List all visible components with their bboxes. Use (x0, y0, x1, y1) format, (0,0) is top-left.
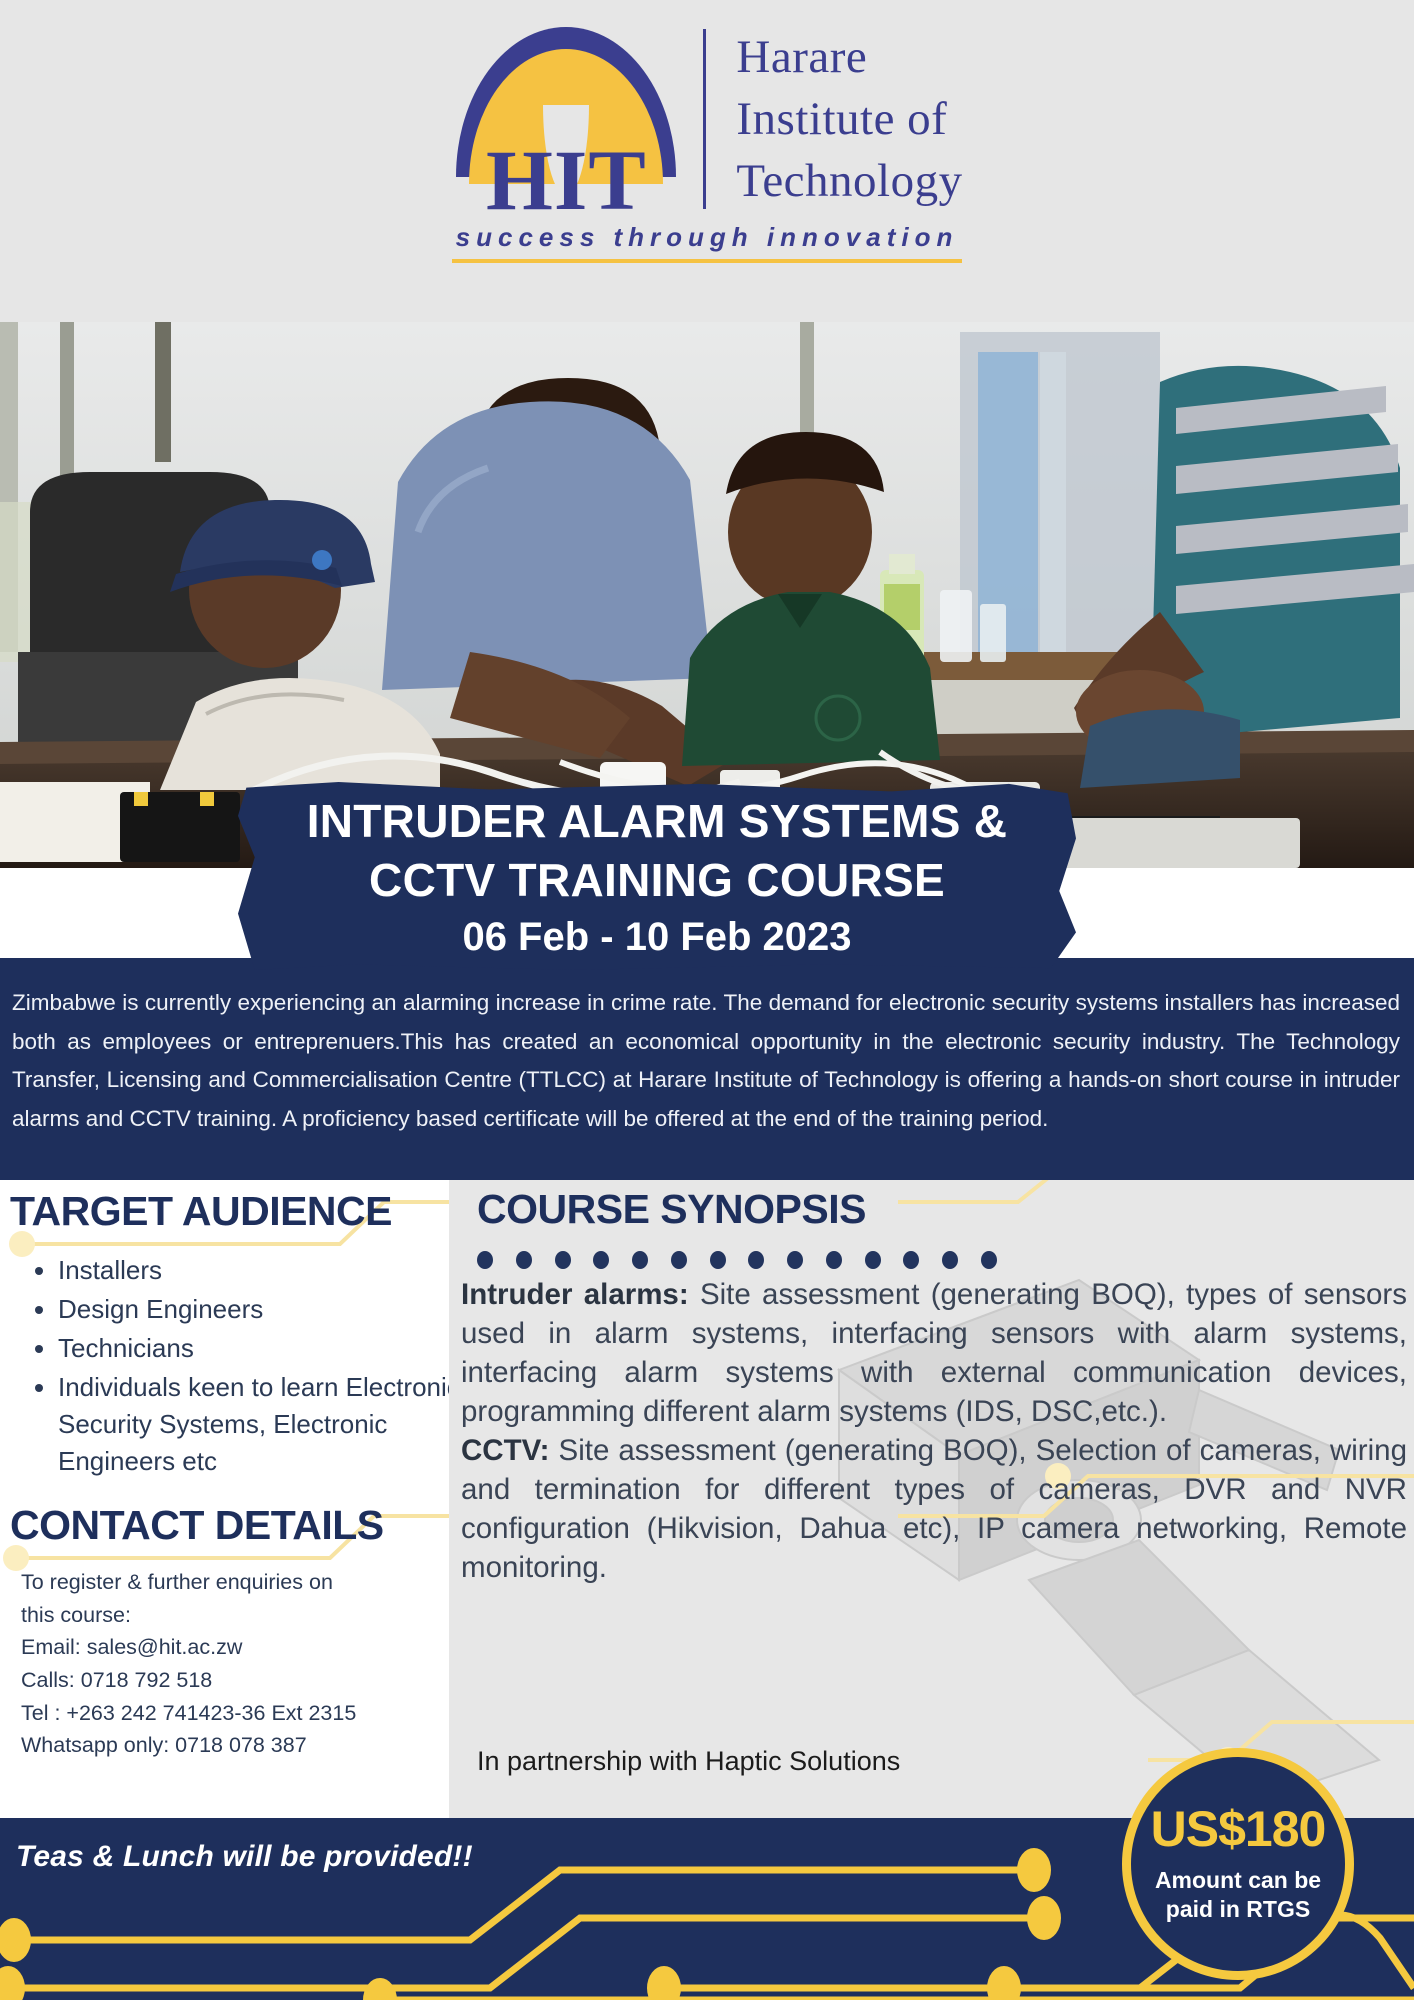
list-item: Individuals keen to learn Electronic Sec… (58, 1369, 478, 1480)
contact-details-heading: CONTACT DETAILS (10, 1502, 384, 1549)
price-amount: US$180 (1151, 1804, 1326, 1854)
logo-acronym: HIT (451, 137, 681, 223)
contact-calls[interactable]: Calls: 0718 792 518 (21, 1664, 441, 1697)
logo-lockup: HIT Harare Institute of Technology (451, 14, 962, 224)
target-audience-heading: TARGET AUDIENCE (10, 1188, 392, 1235)
list-item: Design Engineers (58, 1291, 478, 1328)
partnership-note: In partnership with Haptic Solutions (477, 1746, 900, 1777)
dot-divider (477, 1248, 997, 1272)
tagline-wrap: success through innovation (452, 222, 963, 263)
left-column: TARGET AUDIENCE Installers Design Engine… (0, 1180, 449, 1818)
target-audience-list: Installers Design Engineers Technicians … (18, 1252, 478, 1481)
price-note: Amount can be paid in RTGS (1155, 1866, 1321, 1924)
logo-divider (703, 29, 706, 209)
contact-details-lines: To register & further enquiries on this … (21, 1566, 441, 1762)
description-block: Zimbabwe is currently experiencing an al… (0, 958, 1414, 1180)
price-note-line-1: Amount can be (1155, 1866, 1321, 1895)
institution-line-2: Institute of (736, 88, 962, 150)
course-title-line-2: CCTV TRAINING COURSE (369, 851, 945, 910)
institution-line-3: Technology (736, 150, 962, 212)
list-item: Technicians (58, 1330, 478, 1367)
contact-email[interactable]: Email: sales@hit.ac.zw (21, 1631, 441, 1664)
course-synopsis-body: Intruder alarms: Site assessment (genera… (461, 1276, 1407, 1588)
contact-line: To register & further enquiries on (21, 1566, 441, 1599)
tagline: success through innovation (452, 222, 963, 263)
poster-root: HIT Harare Institute of Technology succe… (0, 0, 1414, 2000)
course-synopsis-heading: COURSE SYNOPSIS (477, 1186, 866, 1233)
right-column: COURSE SYNOPSIS Intruder alarms: Site as… (449, 1180, 1414, 1818)
course-dates: 06 Feb - 10 Feb 2023 (462, 915, 851, 960)
cctv-label: CCTV: (461, 1434, 550, 1467)
intruder-alarms-label: Intruder alarms: (461, 1278, 689, 1311)
contact-line: this course: (21, 1599, 441, 1632)
contact-tel[interactable]: Tel : +263 242 741423-36 Ext 2315 (21, 1697, 441, 1730)
content-columns: TARGET AUDIENCE Installers Design Engine… (0, 1180, 1414, 1818)
course-title-line-1: INTRUDER ALARM SYSTEMS & (307, 792, 1008, 851)
price-note-line-2: paid in RTGS (1155, 1895, 1321, 1924)
contact-whatsapp[interactable]: Whatsapp only: 0718 078 387 (21, 1729, 441, 1762)
description-text: Zimbabwe is currently experiencing an al… (12, 984, 1400, 1139)
header: HIT Harare Institute of Technology succe… (0, 0, 1414, 322)
institution-name: Harare Institute of Technology (736, 26, 962, 212)
institution-line-1: Harare (736, 26, 962, 88)
price-badge: US$180 Amount can be paid in RTGS (1122, 1748, 1354, 1980)
cctv-text: Site assessment (generating BOQ), Select… (461, 1434, 1407, 1584)
hit-logo-icon: HIT (451, 19, 681, 219)
footer-note: Teas & Lunch will be provided!! (16, 1840, 473, 1874)
course-title-banner: INTRUDER ALARM SYSTEMS & CCTV TRAINING C… (238, 782, 1076, 970)
list-item: Installers (58, 1252, 478, 1289)
